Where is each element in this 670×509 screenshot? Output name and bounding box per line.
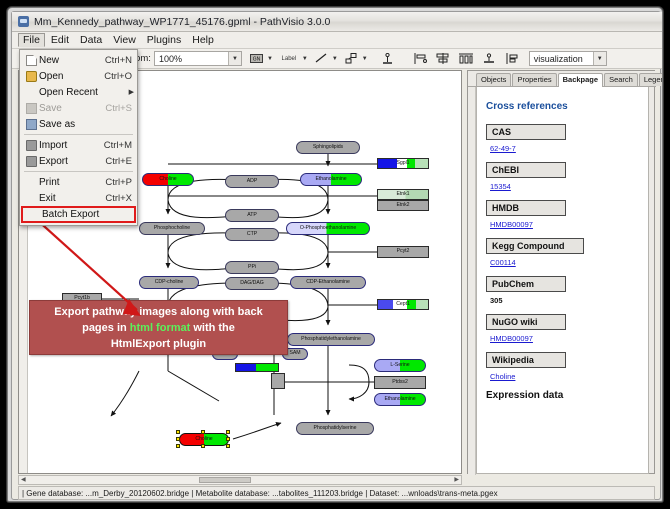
align-left-icon[interactable] bbox=[412, 51, 429, 67]
xref-value-kegg[interactable]: C00114 bbox=[490, 258, 639, 267]
node-adp[interactable]: ADP bbox=[225, 175, 279, 188]
window-title: Mm_Kennedy_pathway_WP1771_45176.gpml - P… bbox=[34, 16, 330, 28]
screenshot-root: Mm_Kennedy_pathway_WP1771_45176.gpml - P… bbox=[0, 0, 670, 509]
menu-item-label: Print bbox=[39, 177, 105, 188]
node-label: Etnk1 bbox=[396, 192, 409, 197]
selection-handle[interactable] bbox=[226, 430, 230, 434]
node-label: CDP-choline bbox=[155, 280, 184, 285]
menu-item-open-recent[interactable]: Open Recent ▶ bbox=[20, 84, 137, 100]
tab-search[interactable]: Search bbox=[604, 73, 638, 87]
node-label: Pcyt2 bbox=[397, 249, 410, 254]
node-label: DAG/DAG bbox=[240, 281, 264, 286]
menu-help[interactable]: Help bbox=[187, 33, 219, 47]
title-bar: Mm_Kennedy_pathway_WP1771_45176.gpml - P… bbox=[12, 12, 662, 32]
selection-handle[interactable] bbox=[176, 430, 180, 434]
xref-value-hmdb[interactable]: HMDB00097 bbox=[490, 220, 639, 229]
node-label: Choline bbox=[195, 437, 212, 442]
node-sphingolipids[interactable]: Sphingolipids bbox=[296, 141, 360, 154]
node-label: PPi bbox=[248, 265, 256, 270]
node-label: Choline bbox=[159, 177, 176, 182]
callout-line-2b: with the bbox=[190, 322, 235, 334]
chevron-down-icon[interactable]: ▼ bbox=[267, 56, 273, 62]
panel-tabs: Objects Properties Backpage Search Legen… bbox=[468, 71, 656, 87]
tab-backpage[interactable]: Backpage bbox=[558, 73, 603, 88]
node-label: Cept1 bbox=[396, 302, 410, 307]
node-etnk2[interactable]: Etnk2 bbox=[377, 200, 429, 211]
new-document-icon bbox=[23, 55, 39, 66]
node-sgpl1[interactable]: Sgpl1 bbox=[377, 158, 429, 169]
status-bar: | Gene database: ...m_Derby_20120602.bri… bbox=[18, 486, 655, 500]
scrollbar-thumb[interactable] bbox=[199, 477, 251, 483]
node-atp[interactable]: ATP bbox=[225, 209, 279, 222]
node-label: Sgpl1 bbox=[396, 161, 409, 166]
node-small-blue-green[interactable] bbox=[235, 363, 279, 372]
node-label: Ethanolamine bbox=[384, 397, 415, 402]
xref-header-kegg: Kegg Compound bbox=[486, 238, 584, 254]
callout-highlight: html format bbox=[130, 322, 191, 334]
node-label: ADP bbox=[247, 179, 258, 184]
callout-line-2a: pages in bbox=[82, 322, 130, 334]
menu-item-new[interactable]: New Ctrl+N bbox=[20, 52, 137, 68]
open-folder-icon bbox=[23, 71, 39, 82]
selection-handle[interactable] bbox=[176, 437, 180, 441]
menu-item-shortcut: Ctrl+P bbox=[105, 177, 134, 188]
menu-item-save: Save Ctrl+S bbox=[20, 100, 137, 116]
status-bar-text: | Gene database: ...m_Derby_20120602.bri… bbox=[22, 489, 498, 498]
line-icon[interactable] bbox=[313, 51, 330, 67]
visualization-combobox[interactable]: visualization ▼ bbox=[529, 51, 607, 66]
node-etnk1[interactable]: Etnk1 bbox=[377, 189, 429, 200]
node-label: Phosphocholine bbox=[154, 226, 190, 231]
node-label: O-Phosphoethanolamine bbox=[300, 226, 356, 231]
node-label: CTP bbox=[247, 232, 257, 237]
annotation-callout: Export pathway images along with back pa… bbox=[29, 300, 288, 355]
stack-icon[interactable] bbox=[481, 51, 498, 67]
node-dag[interactable]: DAG/DAG bbox=[225, 277, 279, 290]
xref-header-hmdb: HMDB bbox=[486, 200, 566, 216]
node-cdp-choline[interactable]: CDP-choline bbox=[139, 276, 199, 289]
menu-item-shortcut: Ctrl+O bbox=[104, 71, 134, 82]
chevron-right-icon: ▶ bbox=[129, 88, 134, 96]
menu-item-exit[interactable]: Exit Ctrl+X bbox=[20, 190, 137, 206]
xref-value-cas[interactable]: 62-49-7 bbox=[490, 144, 639, 153]
menu-item-shortcut: Ctrl+M bbox=[104, 140, 134, 151]
xref-header-wikipedia: Wikipedia bbox=[486, 352, 566, 368]
menu-item-label: Open Recent bbox=[39, 87, 129, 98]
node-label: ATP bbox=[247, 213, 257, 218]
menu-item-shortcut: Ctrl+E bbox=[105, 156, 134, 167]
panel-left-strip bbox=[468, 71, 476, 475]
xref-value-pubchem: 305 bbox=[490, 296, 639, 305]
xref-header-cas: CAS bbox=[486, 124, 566, 140]
tab-objects[interactable]: Objects bbox=[476, 73, 511, 87]
node-ctp[interactable]: CTP bbox=[225, 228, 279, 241]
datanode-tool[interactable]: GN ▼ bbox=[248, 51, 278, 67]
menu-item-shortcut: Ctrl+N bbox=[105, 55, 134, 66]
xref-value-wikipedia[interactable]: Choline bbox=[490, 372, 639, 381]
backpage-content[interactable]: Cross references CAS 62-49-7 ChEBI 15354… bbox=[476, 87, 649, 474]
menu-view[interactable]: View bbox=[108, 33, 141, 47]
node-o-phosphoethanolamine[interactable]: O-Phosphoethanolamine bbox=[286, 222, 370, 235]
file-menu-popup[interactable]: New Ctrl+N Open Ctrl+O Open Recent ▶ Sav… bbox=[19, 49, 138, 226]
menu-item-label: Import bbox=[39, 140, 104, 151]
node-label: CDP-Ethanolamine bbox=[306, 280, 350, 285]
visualization-value: visualization bbox=[534, 54, 583, 64]
label-icon[interactable]: Label bbox=[278, 51, 300, 67]
scroll-right-arrow-icon[interactable]: ▶ bbox=[454, 477, 459, 483]
save-as-icon bbox=[23, 119, 39, 130]
save-icon bbox=[23, 103, 39, 114]
xref-header-pubchem: PubChem bbox=[486, 276, 566, 292]
node-phosphatidylserine[interactable]: Phosphatidylserine bbox=[296, 422, 374, 435]
svg-text:GN: GN bbox=[253, 57, 261, 63]
group-icon[interactable] bbox=[504, 51, 521, 67]
application-window: Mm_Kennedy_pathway_WP1771_45176.gpml - P… bbox=[7, 7, 663, 502]
datanode-icon[interactable]: GN bbox=[248, 51, 265, 67]
align-center-icon[interactable] bbox=[435, 51, 452, 67]
zoom-value: 100% bbox=[159, 54, 182, 64]
expression-data-title: Expression data bbox=[486, 390, 639, 401]
menu-item-label: Open bbox=[39, 71, 104, 82]
menu-bar: File Edit Data View Plugins Help bbox=[12, 32, 662, 49]
node-l-serine[interactable]: L-Serine bbox=[374, 359, 426, 372]
app-icon bbox=[18, 16, 29, 27]
selection-handle[interactable] bbox=[201, 430, 205, 434]
node-label: Etnk2 bbox=[396, 203, 409, 208]
menu-item-label: Batch Export bbox=[42, 209, 131, 220]
node-label: Ethanolamine bbox=[315, 177, 346, 182]
menu-item-label: New bbox=[39, 55, 105, 66]
tab-legend[interactable]: Legend bbox=[639, 73, 663, 87]
menu-edit[interactable]: Edit bbox=[46, 33, 74, 47]
line-tool[interactable]: ▼ bbox=[313, 51, 343, 67]
menu-item-label: Export bbox=[39, 156, 105, 167]
selection-handle[interactable] bbox=[176, 444, 180, 448]
xref-header-nugo: NuGO wiki bbox=[486, 314, 566, 330]
node-unlabeled-shape[interactable] bbox=[271, 373, 285, 389]
callout-line-3: HtmlExport plugin bbox=[111, 338, 206, 350]
node-label: L-Serine bbox=[390, 363, 409, 368]
node-label: Phosphatidylethanolamine bbox=[301, 337, 361, 342]
menu-item-label: Save bbox=[39, 103, 105, 114]
node-phosphocholine[interactable]: Phosphocholine bbox=[139, 222, 205, 235]
shape-tool[interactable]: ▼ bbox=[343, 51, 373, 67]
shape-icon[interactable] bbox=[343, 51, 360, 67]
distribute-icon[interactable] bbox=[458, 51, 475, 67]
zoom-combobox[interactable]: 100% ▼ bbox=[154, 51, 242, 66]
label-tool[interactable]: Label ▼ bbox=[278, 51, 313, 67]
menu-item-label: Save as bbox=[39, 119, 132, 130]
menu-item-batch-export[interactable]: Batch Export bbox=[21, 206, 136, 223]
node-pcyt2[interactable]: Pcyt2 bbox=[377, 246, 429, 258]
chevron-down-icon[interactable]: ▼ bbox=[593, 52, 606, 65]
menu-item-import[interactable]: Import Ctrl+M bbox=[20, 137, 137, 153]
import-icon bbox=[23, 140, 39, 151]
node-ppi[interactable]: PPi bbox=[225, 261, 279, 274]
node-cept1[interactable]: Cept1 bbox=[377, 299, 429, 310]
cross-references-title: Cross references bbox=[486, 101, 639, 112]
selection-handle[interactable] bbox=[201, 444, 205, 448]
chevron-down-icon[interactable]: ▼ bbox=[228, 52, 241, 65]
menu-item-export[interactable]: Export Ctrl+E bbox=[20, 153, 137, 169]
menu-item-shortcut: Ctrl+X bbox=[105, 193, 134, 204]
node-cdp-ethanolamine[interactable]: CDP-Ethanolamine bbox=[290, 276, 366, 289]
node-ethanolamine-bottom[interactable]: Ethanolamine bbox=[374, 393, 426, 406]
node-ethanolamine-top[interactable]: Ethanolamine bbox=[300, 173, 362, 186]
scroll-left-arrow-icon[interactable]: ◀ bbox=[21, 477, 26, 483]
menu-separator bbox=[24, 171, 133, 172]
menu-item-print[interactable]: Print Ctrl+P bbox=[20, 174, 137, 190]
canvas-horizontal-scrollbar[interactable]: ◀ ▶ bbox=[18, 475, 462, 485]
application-window-inner: Mm_Kennedy_pathway_WP1771_45176.gpml - P… bbox=[11, 11, 661, 500]
node-label: Sphingolipids bbox=[313, 145, 343, 150]
node-label: Phosphatidylserine bbox=[314, 426, 357, 431]
node-ptdss2[interactable]: Ptdss2 bbox=[374, 376, 426, 389]
chevron-down-icon[interactable]: ▼ bbox=[362, 56, 368, 62]
xref-header-chebi: ChEBI bbox=[486, 162, 566, 178]
node-label: Ptdss2 bbox=[392, 380, 408, 385]
callout-line-1: Export pathway images along with back bbox=[54, 306, 262, 318]
xref-value-nugo[interactable]: HMDB00097 bbox=[490, 334, 639, 343]
anchor-icon[interactable] bbox=[379, 51, 396, 67]
node-phosphatidylethanolamine[interactable]: Phosphatidylethanolamine bbox=[287, 333, 375, 346]
menu-data[interactable]: Data bbox=[75, 33, 107, 47]
node-choline[interactable]: Choline bbox=[142, 173, 194, 186]
xref-value-chebi[interactable]: 15354 bbox=[490, 182, 639, 191]
selection-handle[interactable] bbox=[226, 444, 230, 448]
chevron-down-icon[interactable]: ▼ bbox=[332, 56, 338, 62]
export-icon bbox=[23, 156, 39, 167]
side-panel: Objects Properties Backpage Search Legen… bbox=[467, 70, 655, 474]
menu-plugins[interactable]: Plugins bbox=[142, 33, 186, 47]
selection-handle[interactable] bbox=[226, 437, 230, 441]
menu-item-open[interactable]: Open Ctrl+O bbox=[20, 68, 137, 84]
chevron-down-icon[interactable]: ▼ bbox=[302, 56, 308, 62]
menu-file[interactable]: File bbox=[18, 33, 45, 47]
menu-item-shortcut: Ctrl+S bbox=[105, 103, 134, 114]
node-label: SAM bbox=[289, 351, 300, 356]
tab-properties[interactable]: Properties bbox=[512, 73, 556, 87]
menu-item-label: Exit bbox=[39, 193, 105, 204]
menu-item-save-as[interactable]: Save as bbox=[20, 116, 137, 132]
menu-separator bbox=[24, 134, 133, 135]
